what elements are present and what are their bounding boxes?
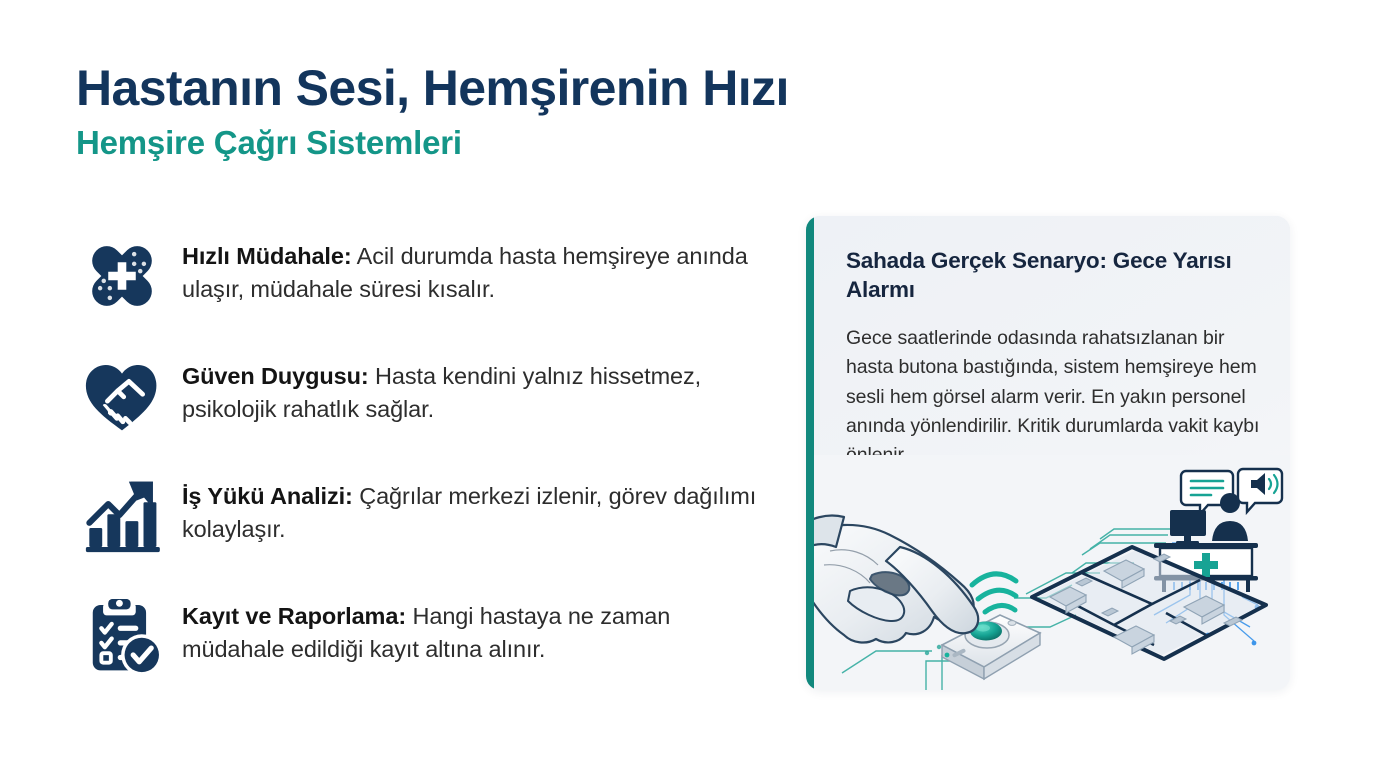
list-item-text: Güven Duygusu: Hasta kendini yalnız hiss… xyxy=(170,348,774,427)
heading-block: Hastanın Sesi, Hemşirenin Hızı Hemşire Ç… xyxy=(76,62,976,161)
list-item: Kayıt ve Raporlama: Hangi hastaya ne zam… xyxy=(74,588,774,684)
list-item-text: Kayıt ve Raporlama: Hangi hastaya ne zam… xyxy=(170,588,774,667)
page-title: Hastanın Sesi, Hemşirenin Hızı xyxy=(76,62,976,115)
list-item-label: İş Yükü Analizi: xyxy=(182,483,353,509)
bar-chart-growth-icon xyxy=(74,468,170,564)
slide-root: Hastanın Sesi, Hemşirenin Hızı Hemşire Ç… xyxy=(0,0,1376,768)
scenario-card-inner: Sahada Gerçek Senaryo: Gece Yarısı Alarm… xyxy=(814,216,1290,690)
bandage-cross-icon xyxy=(74,228,170,324)
nurse-call-system-illustration xyxy=(814,455,1290,690)
handshake-heart-icon xyxy=(74,348,170,444)
list-item-text: İş Yükü Analizi: Çağrılar merkezi izleni… xyxy=(170,468,774,547)
card-accent-bar xyxy=(806,216,814,690)
page-subtitle: Hemşire Çağrı Sistemleri xyxy=(76,125,976,161)
clipboard-check-icon xyxy=(74,588,170,684)
list-item: Hızlı Müdahale: Acil durumda hasta hemşi… xyxy=(74,228,774,324)
list-item-label: Kayıt ve Raporlama: xyxy=(182,603,406,629)
scenario-card: Sahada Gerçek Senaryo: Gece Yarısı Alarm… xyxy=(806,216,1290,690)
list-item-text: Hızlı Müdahale: Acil durumda hasta hemşi… xyxy=(170,228,774,307)
scenario-card-title: Sahada Gerçek Senaryo: Gece Yarısı Alarm… xyxy=(846,246,1256,305)
list-item: Güven Duygusu: Hasta kendini yalnız hiss… xyxy=(74,348,774,444)
list-item-label: Güven Duygusu: xyxy=(182,363,369,389)
list-item: İş Yükü Analizi: Çağrılar merkezi izleni… xyxy=(74,468,774,564)
scenario-card-body: Gece saatlerinde odasında rahatsızlanan … xyxy=(846,324,1276,470)
list-item-label: Hızlı Müdahale: xyxy=(182,243,352,269)
benefits-list: Hızlı Müdahale: Acil durumda hasta hemşi… xyxy=(74,228,774,708)
